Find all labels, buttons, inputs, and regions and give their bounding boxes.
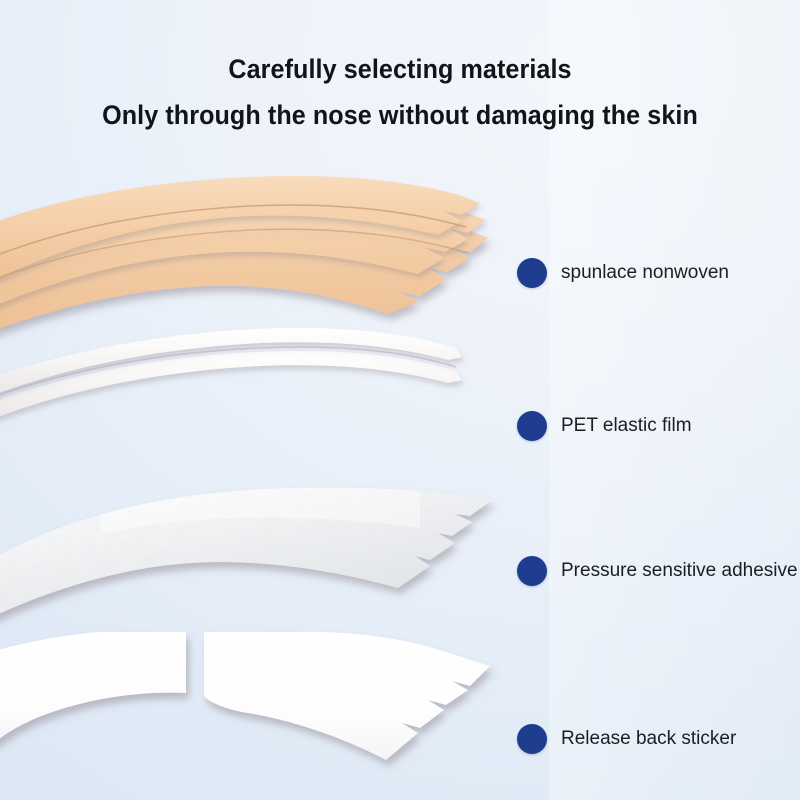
legend-label: PET elastic film [561, 415, 692, 437]
infographic-canvas: Carefully selecting materials Only throu… [0, 0, 800, 800]
legend-item-pressure-sensitive-adhesive: Pressure sensitive adhesive [517, 556, 798, 586]
legend-label: spunlace nonwoven [561, 262, 729, 284]
headings-block: Carefully selecting materials Only throu… [0, 52, 800, 132]
legend-label: Pressure sensitive adhesive [561, 560, 798, 582]
bullet-dot-icon [517, 724, 547, 754]
legend-item-pet-elastic-film: PET elastic film [517, 411, 692, 441]
legend-label: Release back sticker [561, 728, 736, 750]
legend-item-release-back-sticker: Release back sticker [517, 724, 736, 754]
adhesive-texture [0, 470, 510, 640]
bullet-dot-icon [517, 411, 547, 441]
legend-item-spunlace-nonwoven: spunlace nonwoven [517, 258, 729, 288]
release-liner-right [204, 632, 490, 760]
bullet-dot-icon [517, 556, 547, 586]
release-liner-left [0, 632, 186, 746]
page-title-line-2: Only through the nose without damaging t… [28, 98, 772, 132]
bullet-dot-icon [517, 258, 547, 288]
page-title-line-1: Carefully selecting materials [28, 52, 772, 86]
layer-release-back-sticker [0, 632, 490, 760]
